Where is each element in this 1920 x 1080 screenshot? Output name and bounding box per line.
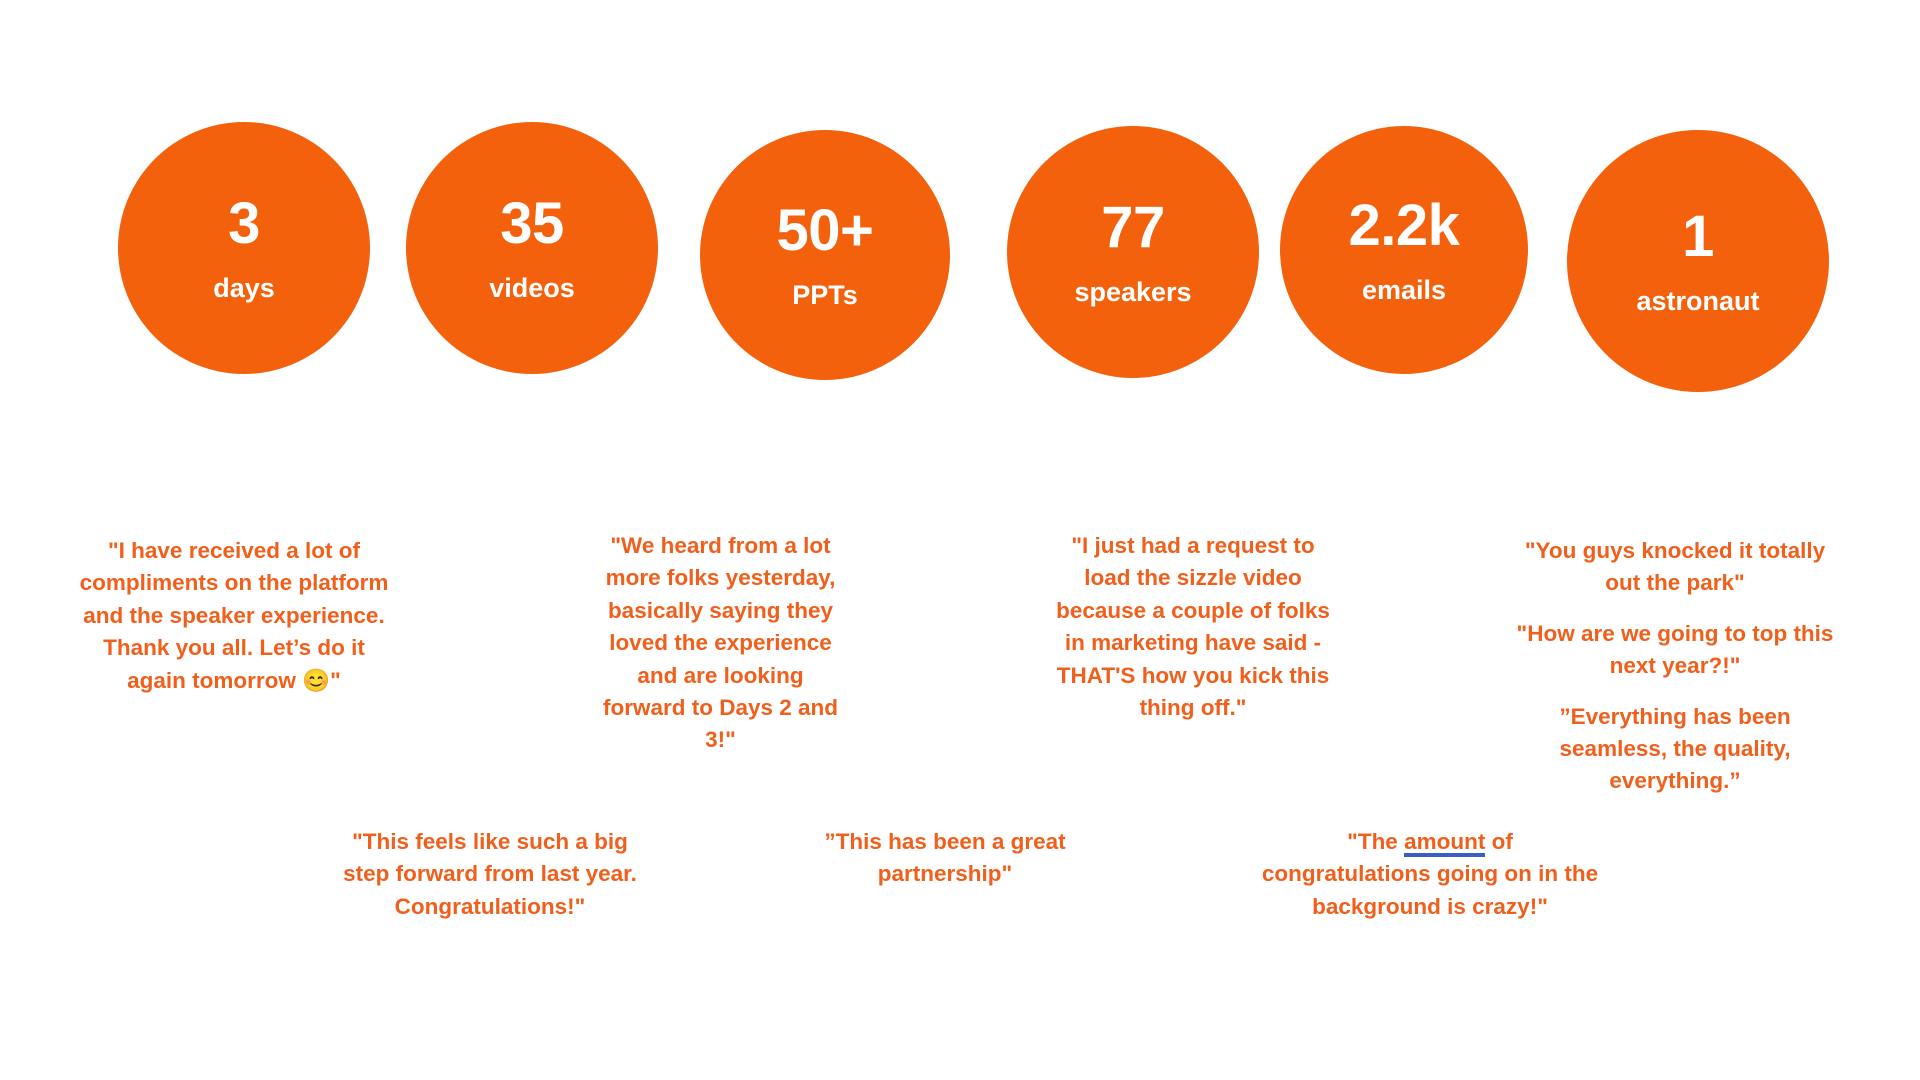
stat-label-emails: emails <box>1362 277 1446 304</box>
quote-compliments-text: "I have received a lot of compliments on… <box>78 535 390 697</box>
stat-label-videos: videos <box>489 275 575 302</box>
stat-circle-ppts[interactable]: 50+ PPTs <box>700 130 950 380</box>
quote-out-the-park: "You guys knocked it totally out the par… <box>1515 535 1835 600</box>
stat-value-videos: 35 <box>500 195 564 253</box>
stat-value-ppts: 50+ <box>777 202 874 260</box>
quote-congratulations-crazy: "The amount of congratulations going on … <box>1260 826 1600 923</box>
quote-sizzle-video-text: "I just had a request to load the sizzle… <box>1048 530 1338 724</box>
quote-partnership: ”This has been a great partnership" <box>800 826 1090 891</box>
stat-value-astronaut: 1 <box>1682 208 1714 266</box>
slide-canvas: 3 days 35 videos 50+ PPTs 77 speakers 2.… <box>0 0 1920 1080</box>
stat-circle-emails[interactable]: 2.2k emails <box>1280 126 1528 374</box>
stat-label-speakers: speakers <box>1074 279 1191 306</box>
quote-days-2-and-3: "We heard from a lot more folks yesterda… <box>598 530 843 757</box>
stat-circle-days[interactable]: 3 days <box>118 122 370 374</box>
stat-value-emails: 2.2k <box>1349 197 1460 255</box>
stat-circle-videos[interactable]: 35 videos <box>406 122 658 374</box>
stat-label-astronaut: astronaut <box>1636 288 1759 315</box>
quote-congratulations-crazy-text: "The amount of congratulations going on … <box>1260 826 1600 923</box>
stat-label-days: days <box>213 275 275 302</box>
quote-step-forward: "This feels like such a big step forward… <box>330 826 650 923</box>
quote-stack-right: "You guys knocked it totally out the par… <box>1515 535 1835 798</box>
quote-sizzle-video: "I just had a request to load the sizzle… <box>1048 530 1338 724</box>
stats-row: 3 days 35 videos 50+ PPTs 77 speakers 2.… <box>0 0 1920 400</box>
quote-compliments: "I have received a lot of compliments on… <box>78 535 390 697</box>
stat-value-speakers: 77 <box>1101 199 1165 257</box>
stat-label-ppts: PPTs <box>792 282 858 309</box>
stat-circle-astronaut[interactable]: 1 astronaut <box>1567 130 1829 392</box>
stat-circle-speakers[interactable]: 77 speakers <box>1007 126 1259 378</box>
quote-prefix: "The <box>1347 829 1404 854</box>
quote-days-2-and-3-text: "We heard from a lot more folks yesterda… <box>598 530 843 757</box>
quote-top-next-year: "How are we going to top this next year?… <box>1515 618 1835 683</box>
stat-value-days: 3 <box>228 195 260 253</box>
quote-partnership-text: ”This has been a great partnership" <box>800 826 1090 891</box>
grammar-flagged-word[interactable]: amount <box>1404 829 1485 857</box>
quote-seamless: ”Everything has been seamless, the quali… <box>1515 701 1835 798</box>
quote-step-forward-text: "This feels like such a big step forward… <box>330 826 650 923</box>
